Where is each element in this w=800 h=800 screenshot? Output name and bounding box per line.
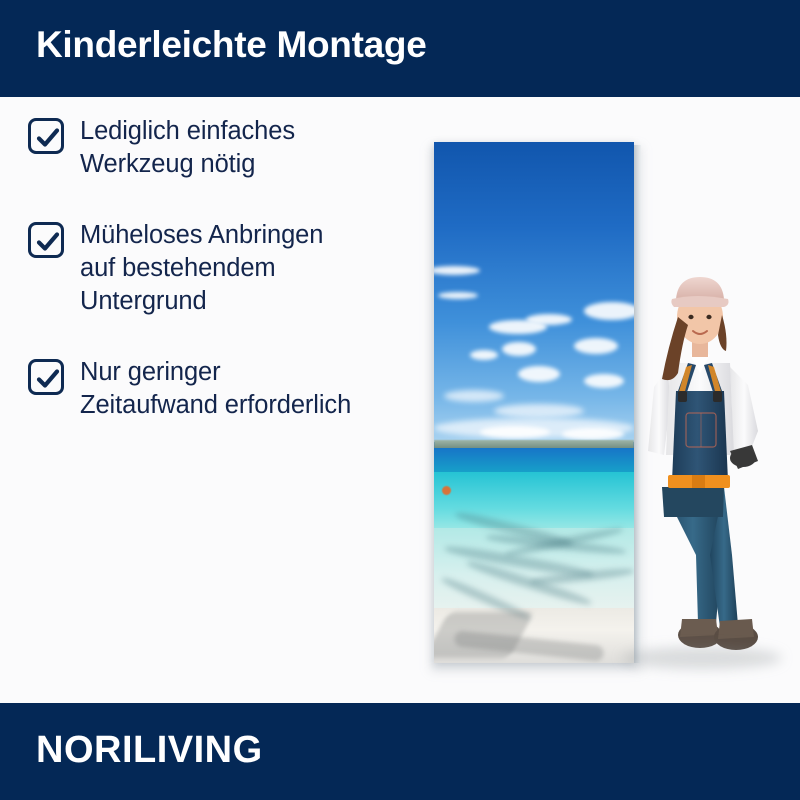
cloud-icon [438, 292, 478, 299]
checkbox-checked-icon [28, 222, 64, 258]
checkbox-checked-icon [28, 359, 64, 395]
benefits-checklist: Lediglich einfaches Werkzeug nötig Mühel… [28, 115, 428, 460]
list-item-line: Nur geringer [80, 356, 351, 389]
list-item-line: Untergrund [80, 285, 323, 318]
cloud-icon [502, 342, 536, 356]
list-item-line: Müheloses Anbringen [80, 219, 323, 252]
turquoise-sea-region [434, 472, 634, 532]
header-bar: Kinderleichte Montage [0, 0, 800, 97]
list-item: Müheloses Anbringen auf bestehendem Unte… [28, 219, 428, 318]
list-item-label: Lediglich einfaches Werkzeug nötig [80, 115, 295, 181]
list-item-line: auf bestehendem [80, 252, 323, 285]
checkbox-checked-icon [28, 118, 64, 154]
cloud-icon [444, 390, 504, 402]
page-title: Kinderleichte Montage [36, 24, 426, 66]
cloud-icon [470, 350, 498, 360]
footer-bar: NORILIVING [0, 703, 800, 800]
promo-banner: Kinderleichte Montage Lediglich einfache… [0, 0, 800, 800]
cloud-icon [518, 366, 560, 382]
brand-logo: NORILIVING [36, 729, 263, 772]
list-item-label: Müheloses Anbringen auf bestehendem Unte… [80, 219, 323, 318]
handwerkerin-figure [612, 255, 787, 675]
cloud-icon [494, 404, 584, 418]
list-item-line: Zeitaufwand erforderlich [80, 389, 351, 422]
product-canvas-print [434, 142, 640, 666]
handwerkerin-illustration [612, 255, 787, 675]
cloud-icon [480, 426, 550, 438]
buoy-icon [442, 486, 451, 495]
list-item: Nur geringer Zeitaufwand erforderlich [28, 356, 428, 422]
cloud-icon [526, 314, 572, 325]
figure-ground-shadow [622, 647, 782, 669]
list-item: Lediglich einfaches Werkzeug nötig [28, 115, 428, 181]
poster-face [434, 142, 634, 663]
deep-sea-region [434, 448, 634, 474]
list-item-label: Nur geringer Zeitaufwand erforderlich [80, 356, 351, 422]
list-item-line: Werkzeug nötig [80, 148, 295, 181]
list-item-line: Lediglich einfaches [80, 115, 295, 148]
